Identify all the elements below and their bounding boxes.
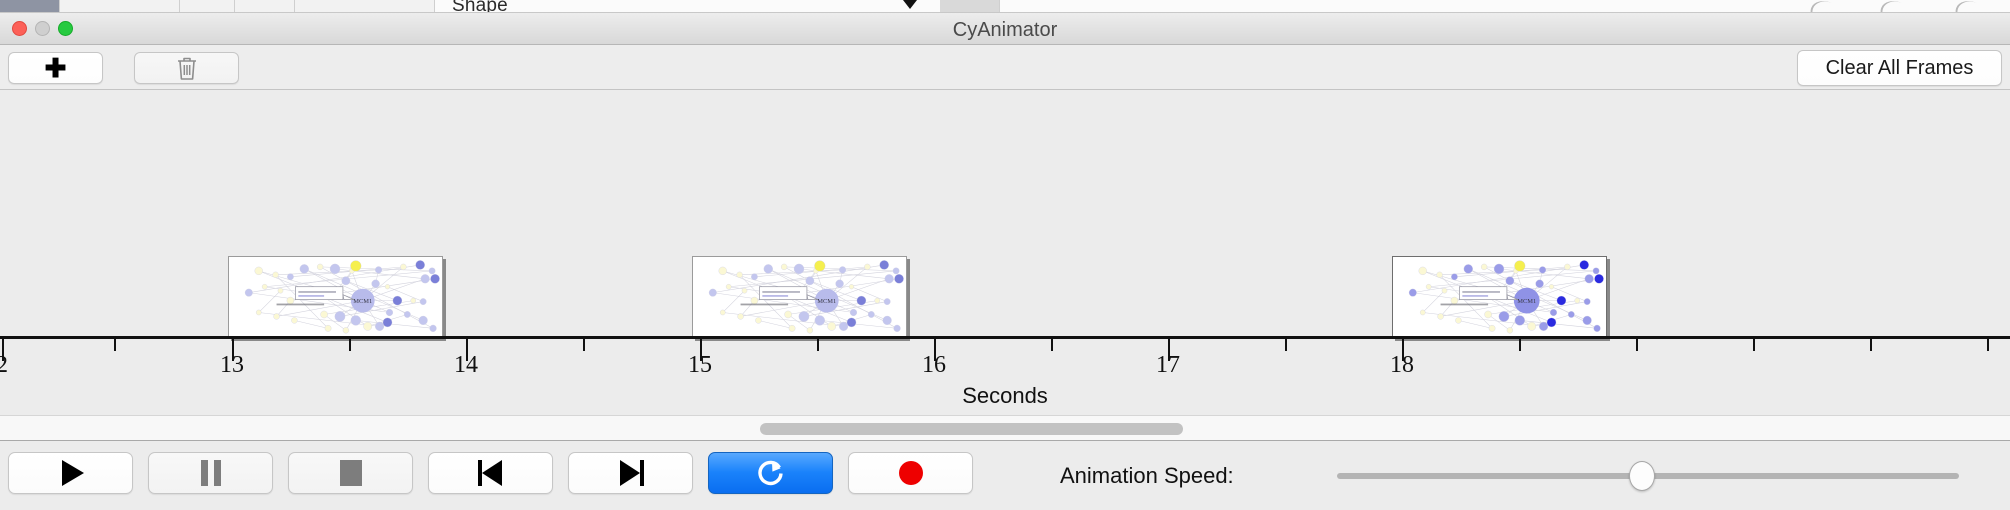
bg-segment <box>60 0 180 13</box>
axis-tick-minor <box>1870 339 1872 351</box>
axis-tick-minor <box>1285 339 1287 351</box>
bg-caret-icon <box>903 0 917 9</box>
background-window-strip: Shape <box>0 0 2010 13</box>
bg-segment <box>235 0 295 13</box>
axis-tick-minor <box>1636 339 1638 351</box>
network-graph: MCM1 <box>1393 257 1606 338</box>
previous-frame-button[interactable] <box>428 452 553 494</box>
title-bar[interactable]: CyAnimator <box>0 13 2010 45</box>
bg-arc-icon <box>1952 0 1993 13</box>
skip-back-icon <box>478 460 504 486</box>
record-button[interactable] <box>848 452 973 494</box>
bg-arc-icon <box>1877 0 1918 13</box>
skip-forward-icon <box>618 460 644 486</box>
add-frame-button[interactable]: ✚ <box>8 52 103 84</box>
axis-tick-label: 13 <box>220 352 244 379</box>
frame-thumbnail-3[interactable]: MCM1 <box>1392 256 1607 338</box>
delete-frame-button[interactable] <box>134 52 239 84</box>
axis-tick-minor <box>114 339 116 351</box>
svg-text:MCM1: MCM1 <box>817 298 836 305</box>
animation-speed-slider[interactable] <box>1337 464 1959 488</box>
svg-text:MCM1: MCM1 <box>353 298 372 305</box>
pause-icon <box>201 460 221 486</box>
toolbar: ✚ Clear All Frames <box>0 45 2010 90</box>
play-button[interactable] <box>8 452 133 494</box>
timeline-panel[interactable]: MCM1MCM1MCM1 2131415161718 Seconds <box>0 90 2010 415</box>
axis-tick-minor <box>1519 339 1521 351</box>
axis-tick-minor <box>1753 339 1755 351</box>
loop-icon <box>756 458 786 488</box>
plus-icon: ✚ <box>45 55 67 81</box>
svg-text:MCM1: MCM1 <box>1517 298 1536 305</box>
bg-window-shape-label: Shape <box>452 0 508 13</box>
window-title: CyAnimator <box>0 19 2010 42</box>
bg-segment <box>180 0 235 13</box>
trash-icon <box>176 56 198 81</box>
record-icon <box>899 461 923 485</box>
timeline-scrollbar-track[interactable] <box>0 415 2010 441</box>
axis-title: Seconds <box>0 383 2010 409</box>
pause-button[interactable] <box>148 452 273 494</box>
axis-tick-label: 15 <box>688 352 712 379</box>
axis-tick-label: 16 <box>922 352 946 379</box>
bg-segment <box>0 0 60 13</box>
play-icon <box>62 460 84 486</box>
axis-tick-label: 17 <box>1156 352 1180 379</box>
frame-thumbnail-1[interactable]: MCM1 <box>228 256 443 338</box>
bg-segment <box>940 0 1000 13</box>
slider-knob[interactable] <box>1629 461 1655 491</box>
network-graph: MCM1 <box>229 257 442 338</box>
next-frame-button[interactable] <box>568 452 693 494</box>
cyanimator-window: Shape CyAnimator ✚ Clear All Frames MCM1… <box>0 0 2010 510</box>
bg-segment <box>295 0 435 13</box>
axis-tick-minor <box>1987 339 1989 351</box>
axis-tick-minor <box>1051 339 1053 351</box>
frame-thumbnail-2[interactable]: MCM1 <box>692 256 907 338</box>
timeline-scrollbar-thumb[interactable] <box>760 423 1183 435</box>
axis-tick-label: 18 <box>1390 352 1414 379</box>
stop-icon <box>340 460 362 486</box>
timeline-axis <box>0 336 2010 339</box>
loop-button[interactable] <box>708 452 833 494</box>
clear-all-frames-button[interactable]: Clear All Frames <box>1797 50 2002 86</box>
axis-tick-minor <box>583 339 585 351</box>
bg-arc-icon <box>1807 0 1848 13</box>
axis-tick-label: 2 <box>0 352 8 379</box>
axis-tick-minor <box>817 339 819 351</box>
playback-control-bar: Animation Speed: <box>0 442 2010 510</box>
stop-button[interactable] <box>288 452 413 494</box>
network-graph: MCM1 <box>693 257 906 338</box>
axis-tick-minor <box>349 339 351 351</box>
frames-track[interactable]: MCM1MCM1MCM1 <box>0 90 2010 302</box>
axis-tick-label: 14 <box>454 352 478 379</box>
animation-speed-label: Animation Speed: <box>1060 463 1234 489</box>
